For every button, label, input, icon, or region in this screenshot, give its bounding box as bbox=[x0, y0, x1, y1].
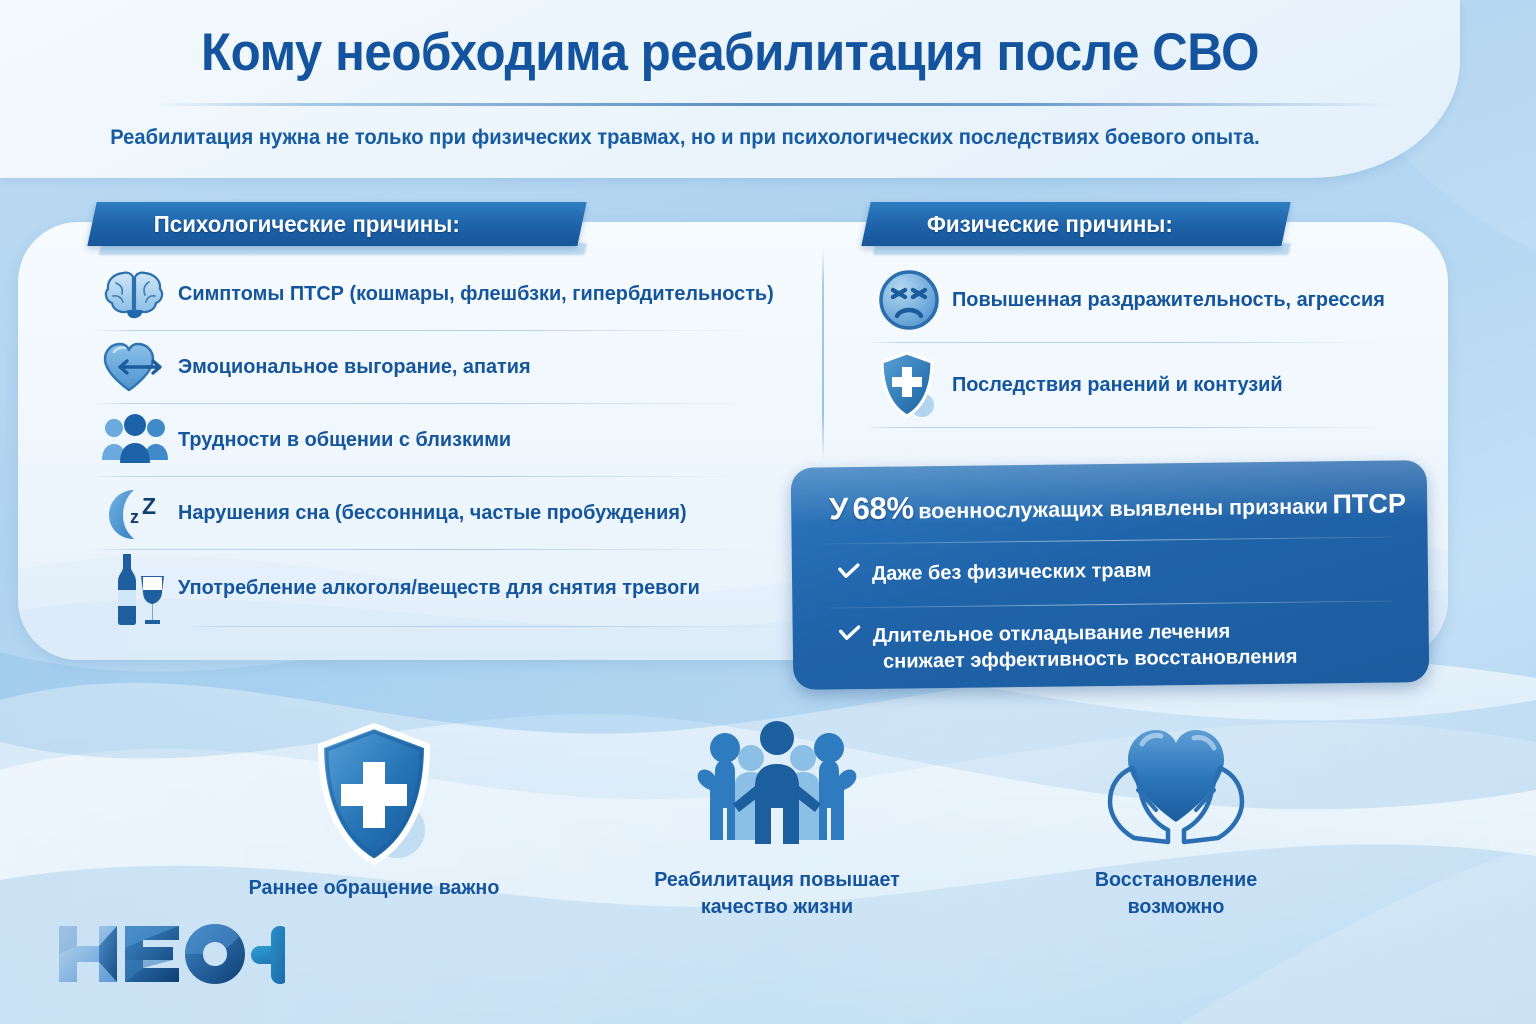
list-item-label: Нарушения сна (бессонница, частые пробуж… bbox=[178, 501, 687, 526]
check-icon bbox=[838, 562, 872, 584]
statistics-panel: У 68% военнослужащих выявлены признаки П… bbox=[791, 460, 1430, 690]
benefit-item: Раннее обращение важно bbox=[224, 720, 524, 902]
people-group-icon bbox=[92, 414, 178, 466]
people-together-icon bbox=[627, 712, 927, 867]
benefit-label-line1: Реабилитация повышает bbox=[633, 867, 921, 894]
list-item[interactable]: Симптомы ПТСР (кошмары, флешбзки, гиперб… bbox=[92, 258, 792, 330]
list-item[interactable]: Повышенная раздражительность, агрессия bbox=[866, 258, 1422, 342]
neo-plus-logo[interactable] bbox=[55, 918, 285, 990]
brain-icon bbox=[92, 267, 178, 321]
list-item[interactable]: z Z Нарушения сна (бессонница, частые пр… bbox=[92, 477, 792, 549]
stat-headline-tag: ПТСР bbox=[1332, 488, 1406, 519]
shield-cross-large-icon bbox=[224, 720, 524, 875]
stat-point: Длительное откладывание лечения снижает … bbox=[839, 619, 1298, 676]
list-item-label: Повышенная раздражительность, агрессия bbox=[952, 288, 1385, 313]
heart-arrow-icon bbox=[92, 338, 178, 396]
list-item-label: Употребление алкоголя/веществ для снятия… bbox=[178, 576, 700, 601]
physical-heading-label: Физические причины: bbox=[871, 211, 1173, 238]
benefit-label-line2: возможно bbox=[1032, 894, 1320, 921]
moon-sleep-icon: z Z bbox=[92, 485, 178, 541]
list-divider bbox=[188, 626, 788, 627]
list-item-label: Трудности в общении с близкими bbox=[178, 428, 511, 453]
list-item[interactable]: Трудности в общении с близкими bbox=[92, 404, 792, 476]
physical-causes-list: Повышенная раздражительность, агрессия П… bbox=[866, 258, 1422, 428]
benefit-item: Реабилитация повышает качество жизни bbox=[627, 712, 927, 920]
stat-point: Даже без физических травм bbox=[838, 558, 1152, 587]
shield-cross-icon bbox=[866, 350, 952, 420]
benefit-label-line1: Раннее обращение важно bbox=[230, 875, 518, 902]
list-item-label: Последствия ранений и контузий bbox=[952, 373, 1283, 398]
header-panel: Кому необходима реабилитация после СВО Р… bbox=[0, 0, 1460, 178]
column-divider bbox=[822, 248, 824, 460]
title-divider bbox=[155, 103, 1393, 106]
bottle-glass-icon bbox=[92, 550, 178, 626]
page-subtitle: Реабилитация нужна не только при физичес… bbox=[27, 126, 1342, 150]
psychological-causes-list: Симптомы ПТСР (кошмары, флешбзки, гиперб… bbox=[92, 258, 792, 627]
psychological-heading-label: Психологические причины: bbox=[98, 211, 460, 238]
benefit-item: Восстановление возможно bbox=[1026, 712, 1326, 920]
stat-percent: 68% bbox=[852, 490, 914, 526]
list-item[interactable]: Последствия ранений и контузий bbox=[866, 343, 1422, 427]
stat-headline-mid: военнослужащих выявлены признаки bbox=[918, 494, 1328, 523]
stat-headline: У 68% военнослужащих выявлены признаки П… bbox=[829, 484, 1406, 527]
infographic-root: Кому необходима реабилитация после СВО Р… bbox=[0, 0, 1536, 1024]
list-divider bbox=[866, 427, 1386, 428]
stat-prefix: У bbox=[829, 491, 848, 526]
page-title: Кому необходима реабилитация после СВО bbox=[51, 22, 1409, 83]
stat-point-line2: снижает эффективность восстановления bbox=[883, 644, 1298, 675]
list-item-label: Симптомы ПТСР (кошмары, флешбзки, гиперб… bbox=[178, 282, 774, 307]
stat-divider bbox=[826, 537, 1392, 545]
list-item-label: Эмоциональное выгорание, апатия bbox=[178, 355, 531, 380]
list-item[interactable]: Употребление алкоголя/веществ для снятия… bbox=[92, 550, 792, 626]
physical-heading-banner: Физические причины: bbox=[861, 202, 1290, 246]
psychological-heading-banner: Психологические причины: bbox=[87, 202, 586, 246]
svg-text:Z: Z bbox=[142, 493, 156, 519]
stat-point-line1: Даже без физических травм bbox=[872, 558, 1152, 587]
check-icon bbox=[839, 624, 873, 646]
hands-heart-icon bbox=[1026, 712, 1326, 867]
stat-divider bbox=[826, 601, 1392, 609]
list-item[interactable]: Эмоциональное выгорание, апатия bbox=[92, 331, 792, 403]
benefit-label-line2: качество жизни bbox=[633, 894, 921, 921]
benefit-label-line1: Восстановление bbox=[1032, 867, 1320, 894]
svg-text:z: z bbox=[130, 507, 139, 527]
angry-face-icon bbox=[866, 268, 952, 332]
